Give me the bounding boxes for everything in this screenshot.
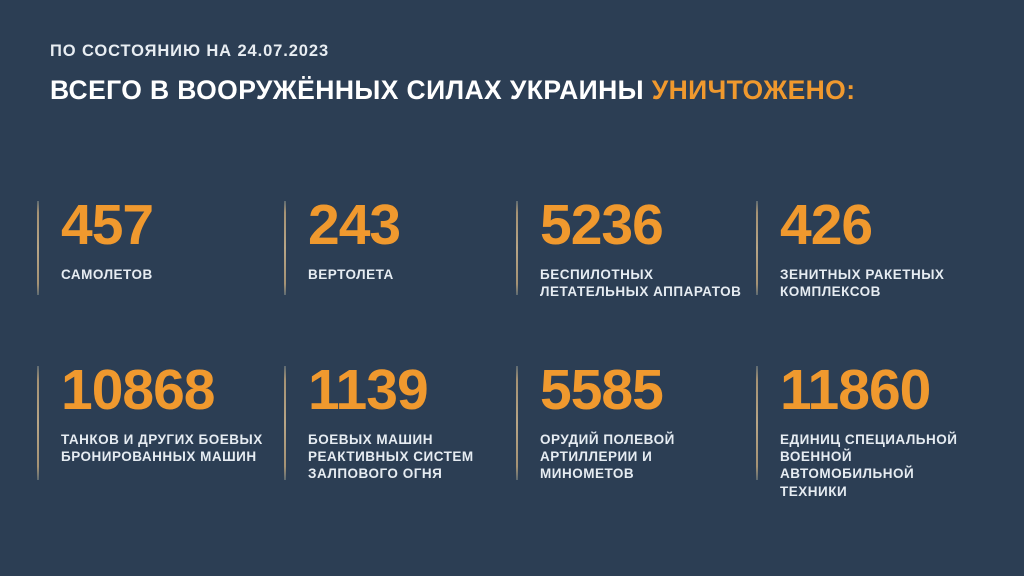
stat-cell-uavs: 5236 БЕСПИЛОТНЫХ ЛЕТАТЕЛЬНЫХ АППАРАТОВ [516, 198, 756, 300]
divider-line [284, 366, 286, 480]
stat-cell-military-vehicles: 11860 ЕДИНИЦ СПЕЦИАЛЬНОЙ ВОЕННОЙ АВТОМОБ… [756, 363, 997, 500]
stat-label: ТАНКОВ И ДРУГИХ БОЕВЫХ БРОНИРОВАННЫХ МАШ… [61, 431, 276, 466]
stat-cell-tanks: 10868 ТАНКОВ И ДРУГИХ БОЕВЫХ БРОНИРОВАНН… [37, 363, 284, 465]
page-title: ВСЕГО В ВООРУЖЁННЫХ СИЛАХ УКРАИНЫ УНИЧТО… [50, 75, 984, 105]
stats-row: 10868 ТАНКОВ И ДРУГИХ БОЕВЫХ БРОНИРОВАНН… [37, 363, 997, 523]
stat-value: 243 [308, 198, 508, 254]
stat-label: БЕСПИЛОТНЫХ ЛЕТАТЕЛЬНЫХ АППАРАТОВ [540, 266, 748, 301]
stat-value: 426 [780, 198, 989, 254]
stat-label: ОРУДИЙ ПОЛЕВОЙ АРТИЛЛЕРИИ И МИНОМЕТОВ [540, 431, 748, 483]
stat-value: 457 [61, 198, 276, 254]
divider-line [756, 366, 758, 480]
divider-line [756, 201, 758, 295]
stat-label: БОЕВЫХ МАШИН РЕАКТИВНЫХ СИСТЕМ ЗАЛПОВОГО… [308, 431, 508, 483]
stat-cell-helicopters: 243 ВЕРТОЛЕТА [284, 198, 516, 283]
divider-line [284, 201, 286, 295]
stat-value: 10868 [61, 363, 276, 419]
stat-value: 5236 [540, 198, 748, 254]
stats-grid: 457 САМОЛЕТОВ 243 ВЕРТОЛЕТА 5236 БЕСПИЛО… [37, 198, 997, 523]
stat-cell-aircraft: 457 САМОЛЕТОВ [37, 198, 284, 283]
divider-line [37, 366, 39, 480]
stat-label: ВЕРТОЛЕТА [308, 266, 508, 283]
divider-line [516, 201, 518, 295]
report-date-line: ПО СОСТОЯНИЮ НА 24.07.2023 [50, 42, 984, 62]
stat-value: 11860 [780, 363, 989, 419]
page-title-main: ВСЕГО В ВООРУЖЁННЫХ СИЛАХ УКРАИНЫ [50, 75, 644, 105]
divider-line [37, 201, 39, 295]
page-title-accent: УНИЧТОЖЕНО: [652, 75, 856, 105]
stat-cell-air-defense: 426 ЗЕНИТНЫХ РАКЕТНЫХ КОМПЛЕКСОВ [756, 198, 997, 300]
stat-label: ЕДИНИЦ СПЕЦИАЛЬНОЙ ВОЕННОЙ АВТОМОБИЛЬНОЙ… [780, 431, 989, 500]
stats-row: 457 САМОЛЕТОВ 243 ВЕРТОЛЕТА 5236 БЕСПИЛО… [37, 198, 997, 358]
stat-label: ЗЕНИТНЫХ РАКЕТНЫХ КОМПЛЕКСОВ [780, 266, 989, 301]
stat-cell-mlrs: 1139 БОЕВЫХ МАШИН РЕАКТИВНЫХ СИСТЕМ ЗАЛП… [284, 363, 516, 483]
infographic-slide: ПО СОСТОЯНИЮ НА 24.07.2023 ВСЕГО В ВООРУ… [0, 0, 1024, 576]
header: ПО СОСТОЯНИЮ НА 24.07.2023 ВСЕГО В ВООРУ… [50, 42, 984, 105]
stat-value: 5585 [540, 363, 748, 419]
stat-value: 1139 [308, 363, 508, 419]
stat-cell-field-artillery: 5585 ОРУДИЙ ПОЛЕВОЙ АРТИЛЛЕРИИ И МИНОМЕТ… [516, 363, 756, 483]
stat-label: САМОЛЕТОВ [61, 266, 276, 283]
divider-line [516, 366, 518, 480]
